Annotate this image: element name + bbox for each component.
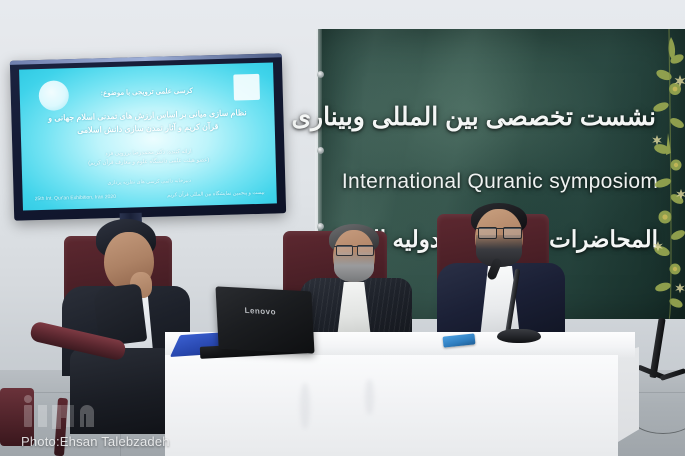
banner-grommet	[317, 71, 324, 78]
panelist-right-glasses-lens-r	[503, 227, 522, 239]
photo-credit: Photo:Ehsan Talebzadeh	[21, 434, 170, 449]
lenovo-laptop[interactable]: Lenovo	[215, 286, 314, 353]
banner-grommet	[317, 223, 324, 230]
presentation-display: کرسی علمی ترویجی با موضوع: نظام سازی میا…	[10, 53, 286, 221]
slide-line-2: قرآن کریم و آثار تمدن سازی دانش اسلامی	[21, 120, 275, 136]
desk-surface-mark	[365, 379, 374, 415]
slide-footer-left: 25th Int. Qur'an Exhibition, Iran 2020	[35, 194, 116, 202]
panelist-center-glasses-lens-l	[336, 245, 353, 256]
panelist-center-beard	[334, 252, 374, 282]
photograph-canvas: نشست تخصصی بین المللی وبیناری Internatio…	[0, 0, 685, 456]
floral-vine-ornament	[651, 29, 685, 319]
banner-grommet	[317, 147, 324, 154]
panelist-right-glasses-lens-l	[478, 227, 497, 239]
banner-persian-title: نشست تخصصی بین المللی وبیناری	[326, 102, 656, 132]
microphone-base	[497, 329, 541, 343]
slide-footer-right: بیست و پنجمین نمایشگاه بین المللی قرآن ک…	[167, 190, 265, 199]
panelist-center-glasses-lens-r	[357, 245, 374, 256]
desk-front-panel	[165, 355, 618, 456]
slide-line-5: دبیرخانه دائمی کرسی های نظریه پردازی	[22, 175, 276, 188]
banner-english-title: International Quranic symposiom	[340, 170, 660, 194]
lenovo-logo: Lenovo	[244, 306, 276, 317]
iqna-watermark-logo	[22, 395, 106, 429]
display-screen: کرسی علمی ترویجی با موضوع: نظام سازی میا…	[19, 62, 277, 210]
desk-surface-mark	[300, 383, 310, 429]
